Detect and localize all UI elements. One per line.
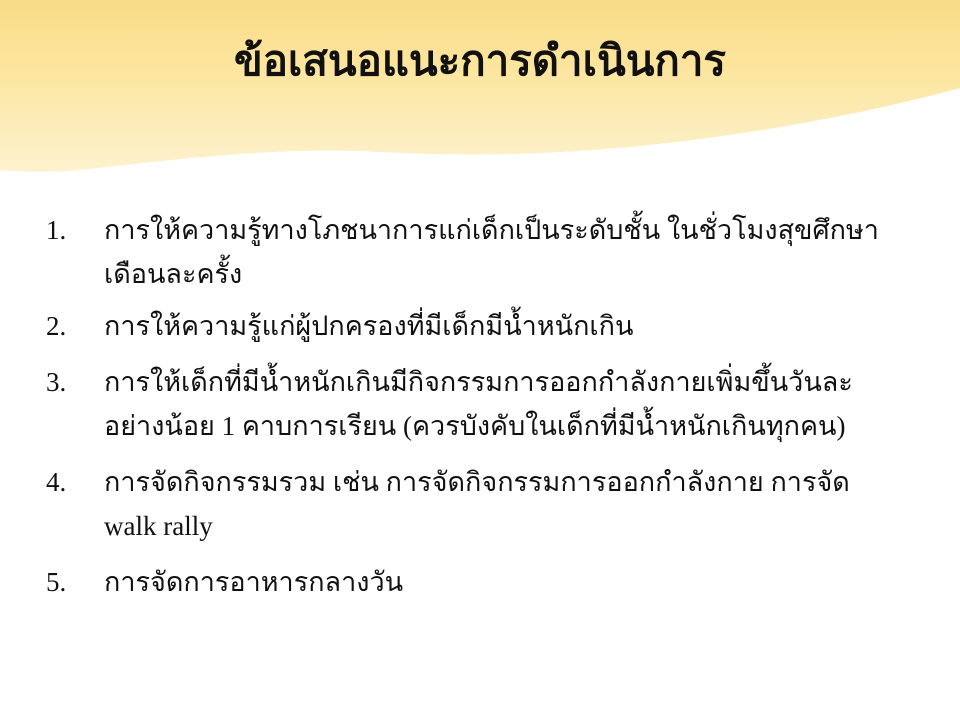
recommendations-list: 1. การให้ความรู้ทางโภชนาการแก่เด็กเป็นระ… <box>46 208 926 604</box>
list-item-number: 1. <box>46 208 104 252</box>
list-item-line: การให้ความรู้ทางโภชนาการแก่เด็กเป็นระดับ… <box>104 208 926 252</box>
list-item: 3. การให้เด็กที่มีน้ำหนักเกินมีกิจกรรมกา… <box>46 360 926 448</box>
list-item-number: 5. <box>46 560 104 604</box>
header-banner-decoration <box>0 0 960 200</box>
list-item: 1. การให้ความรู้ทางโภชนาการแก่เด็กเป็นระ… <box>46 208 926 296</box>
list-item-text: การจัดกิจกรรมรวม เช่น การจัดกิจกรรมการออ… <box>104 460 926 548</box>
list-item: 5. การจัดการอาหารกลางวัน <box>46 560 926 604</box>
list-item-line: การให้เด็กที่มีน้ำหนักเกินมีกิจกรรมการออ… <box>104 360 926 404</box>
list-item-number: 2. <box>46 304 104 348</box>
list-item-number: 4. <box>46 460 104 504</box>
list-item-line: การจัดการอาหารกลางวัน <box>104 560 926 604</box>
list-item-number: 3. <box>46 360 104 404</box>
list-item-line: เดือนละครั้ง <box>104 252 926 296</box>
list-item-text: การจัดการอาหารกลางวัน <box>104 560 926 604</box>
presentation-slide: ข้อเสนอแนะการดำเนินการ 1. การให้ความรู้ท… <box>0 0 960 720</box>
list-item-line: การให้ความรู้แก่ผู้ปกครองที่มีเด็กมีน้ำห… <box>104 304 926 348</box>
list-item-text: การให้เด็กที่มีน้ำหนักเกินมีกิจกรรมการออ… <box>104 360 926 448</box>
list-item: 4. การจัดกิจกรรมรวม เช่น การจัดกิจกรรมกา… <box>46 460 926 548</box>
list-item-line: อย่างน้อย 1 คาบการเรียน (ควรบังคับในเด็ก… <box>104 404 926 448</box>
list-item-line: การจัดกิจกรรมรวม เช่น การจัดกิจกรรมการออ… <box>104 460 926 504</box>
list-item-line: walk rally <box>104 504 926 548</box>
list-item: 2. การให้ความรู้แก่ผู้ปกครองที่มีเด็กมีน… <box>46 304 926 348</box>
page-title: ข้อเสนอแนะการดำเนินการ <box>0 38 960 86</box>
list-item-text: การให้ความรู้ทางโภชนาการแก่เด็กเป็นระดับ… <box>104 208 926 296</box>
list-item-text: การให้ความรู้แก่ผู้ปกครองที่มีเด็กมีน้ำห… <box>104 304 926 348</box>
